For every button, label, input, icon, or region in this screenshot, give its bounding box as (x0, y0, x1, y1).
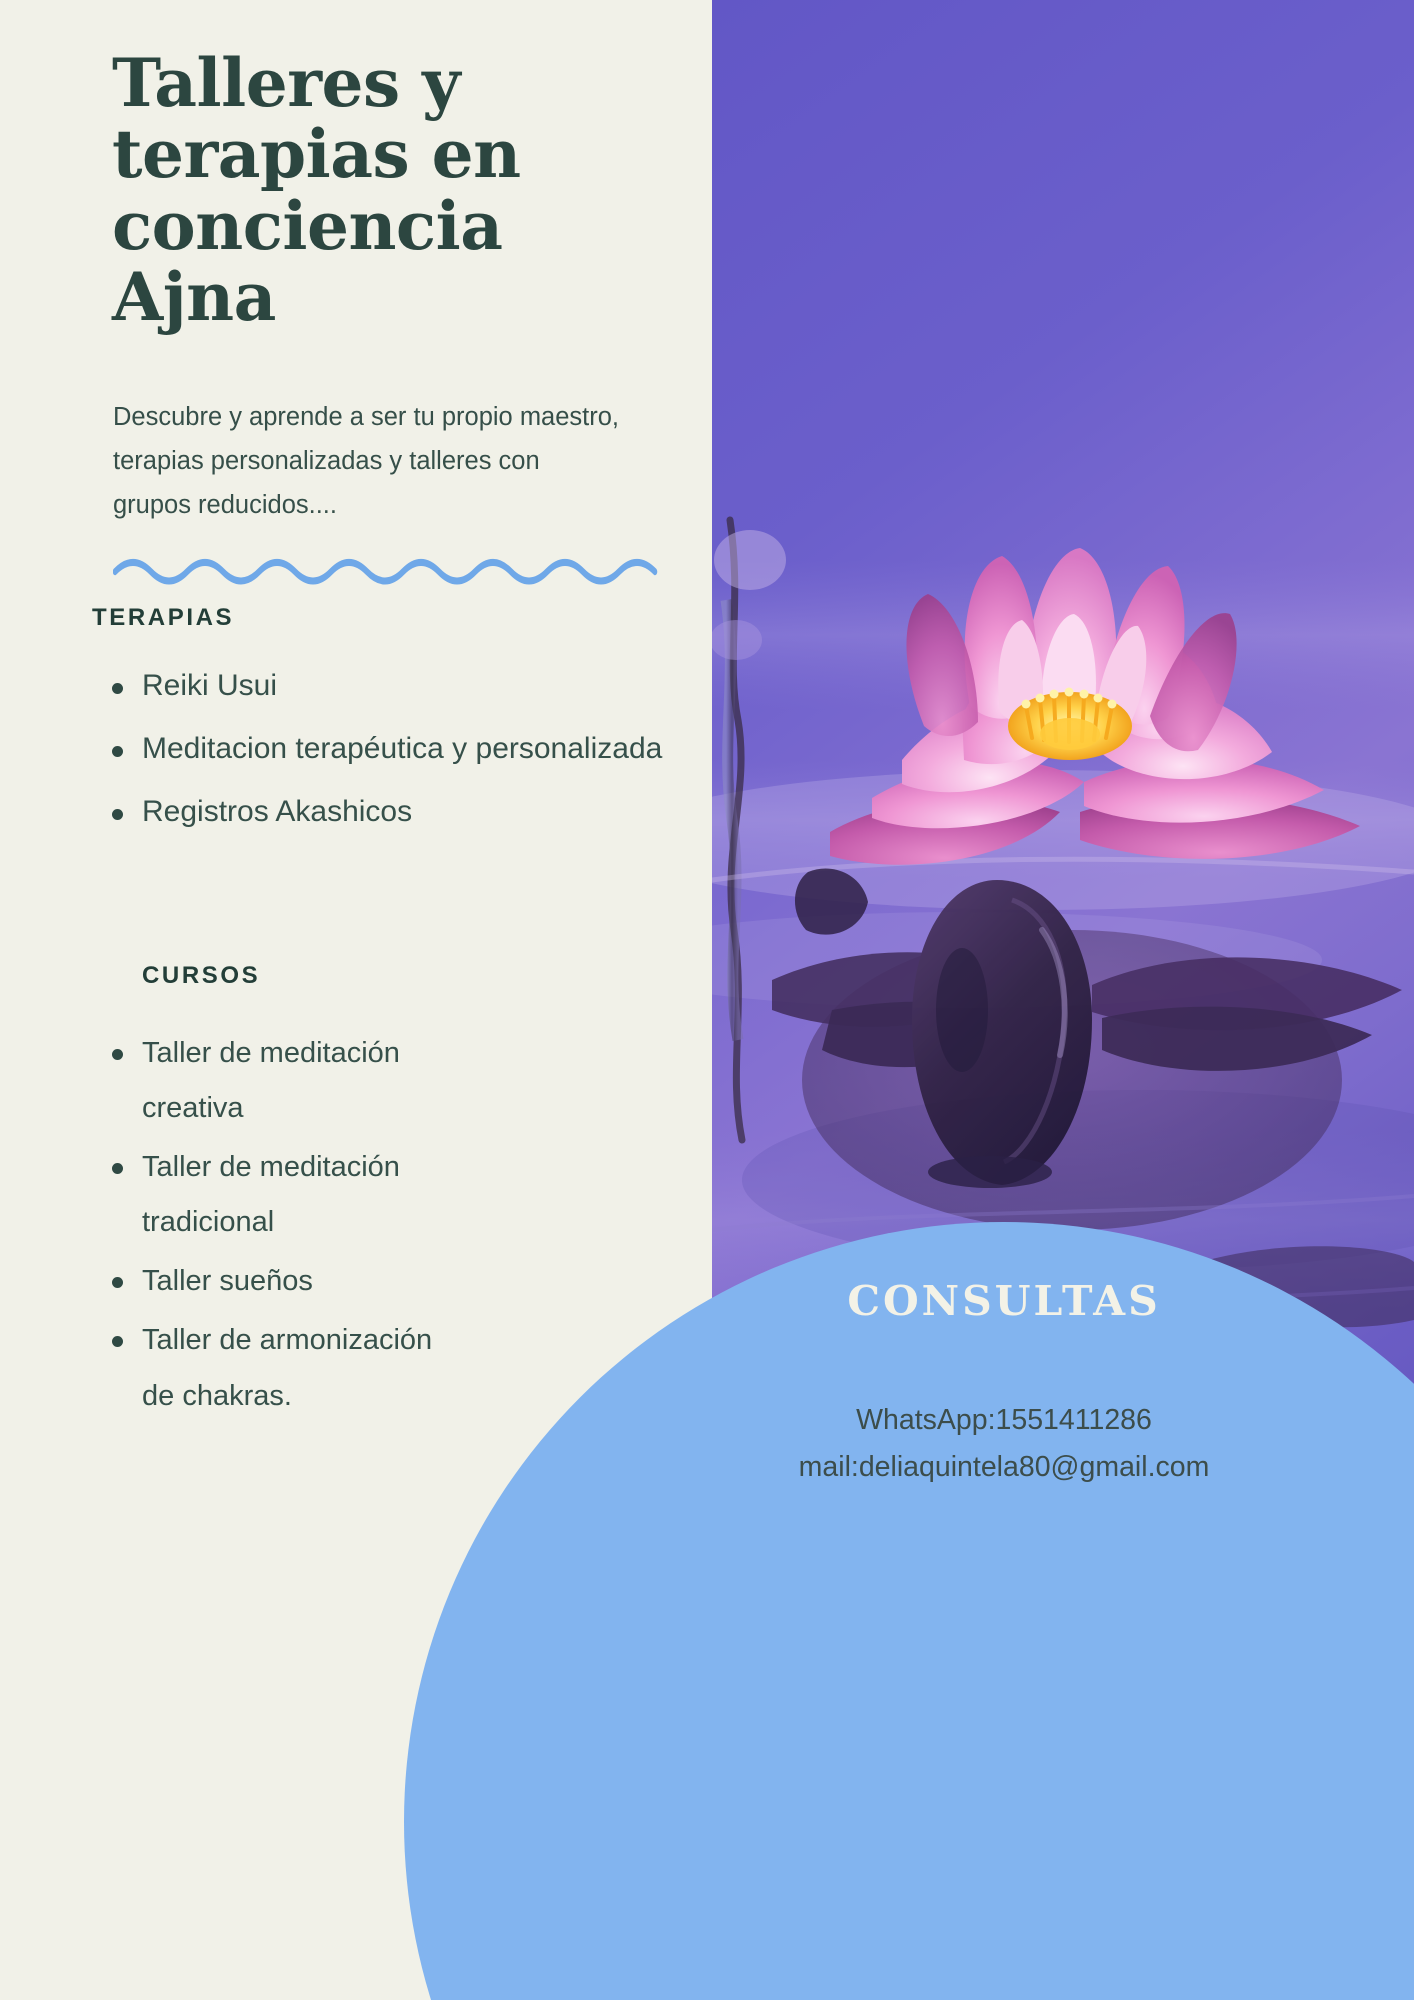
terapias-list: Reiki Usui Meditacion terapéutica y pers… (100, 664, 680, 853)
wavy-line-divider (113, 544, 689, 586)
section-heading-cursos: CURSOS (142, 962, 260, 990)
consultas-title: CONSULTAS (684, 1277, 1324, 1325)
poster-root: Talleres y terapias en conciencia Ajna D… (0, 0, 1414, 2000)
subtitle-text: Descubre y aprende a ser tu propio maest… (113, 396, 623, 528)
list-item: Reiki Usui (100, 664, 680, 708)
contact-details: WhatsApp:1551411286 mail:deliaquintela80… (684, 1397, 1324, 1492)
cursos-list: Taller de meditación creativa Taller de … (100, 1026, 460, 1428)
list-item: Taller sueños (100, 1254, 460, 1309)
list-item: Taller de meditación tradicional (100, 1140, 460, 1250)
list-item: Taller de armonización de chakras. (100, 1313, 460, 1423)
whatsapp-line[interactable]: WhatsApp:1551411286 (684, 1397, 1324, 1444)
page-title: Talleres y terapias en conciencia Ajna (112, 48, 532, 333)
section-heading-terapias: TERAPIAS (92, 604, 234, 632)
list-item: Meditacion terapéutica y personalizada (100, 727, 680, 771)
list-item: Taller de meditación creativa (100, 1026, 460, 1136)
list-item: Registros Akashicos (100, 790, 680, 834)
email-line[interactable]: mail:deliaquintela80@gmail.com (684, 1444, 1324, 1491)
